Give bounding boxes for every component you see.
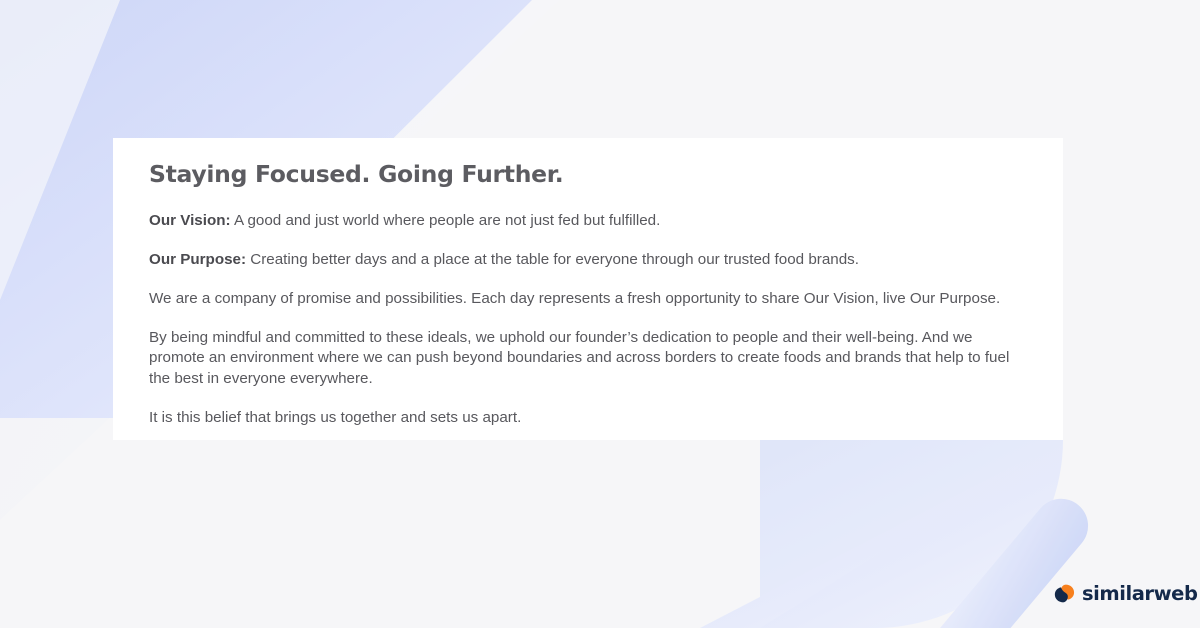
paragraph-mindful: By being mindful and committed to these … [149, 328, 1027, 388]
content-card: Staying Focused. Going Further. Our Visi… [113, 138, 1063, 440]
paragraph-belief: It is this belief that brings us togethe… [149, 408, 1027, 428]
paragraph-promise: We are a company of promise and possibil… [149, 289, 1027, 309]
purpose-text: Creating better days and a place at the … [246, 251, 859, 268]
similarweb-logo-mark [1054, 583, 1075, 604]
similarweb-logo: similarweb [1054, 583, 1197, 604]
paragraph-vision: Our Vision: A good and just world where … [149, 211, 1027, 231]
purpose-label: Our Purpose: [149, 251, 246, 268]
vision-label: Our Vision: [149, 212, 231, 229]
page-title: Staying Focused. Going Further. [149, 160, 1027, 188]
vision-text: A good and just world where people are n… [231, 212, 661, 229]
paragraph-purpose: Our Purpose: Creating better days and a … [149, 250, 1027, 270]
similarweb-wordmark: similarweb [1082, 584, 1197, 604]
